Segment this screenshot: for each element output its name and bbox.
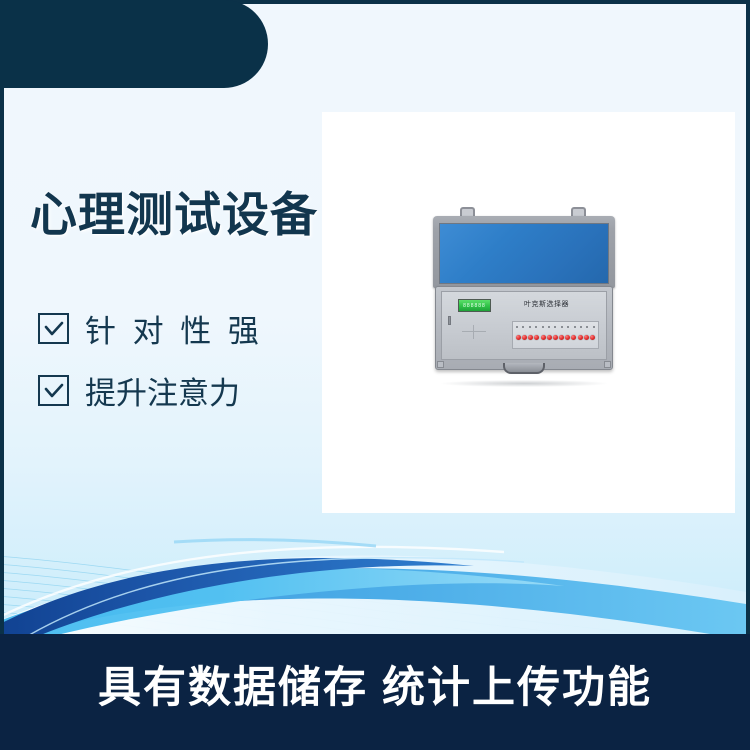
indicator-dot [574, 326, 576, 328]
footer-bar: 具有数据储存 统计上传功能 [0, 634, 750, 750]
decorative-wave-graphic [4, 518, 746, 638]
indicator-dot [580, 326, 582, 328]
indicator-dot [542, 326, 544, 328]
navy-corner-block [0, 0, 268, 88]
case-corner-bracket [437, 361, 444, 368]
feature-list: 针 对 性 强 提升注意力 [38, 297, 328, 421]
red-button-row [516, 335, 595, 340]
red-button [547, 335, 552, 340]
case-lid [433, 216, 615, 288]
red-button [584, 335, 589, 340]
red-button [571, 335, 576, 340]
indicator-dot [522, 326, 524, 328]
indicator-dot [554, 326, 556, 328]
red-button [553, 335, 558, 340]
product-photo-psych-test-case: 888888 叶克斯选择器 [433, 207, 615, 379]
case-corner-bracket [604, 361, 611, 368]
footer-text: 具有数据储存 统计上传功能 [0, 653, 750, 715]
checkbox-checked-icon [38, 313, 69, 344]
case-lid-blue-surface [439, 223, 609, 284]
page-title: 心理测试设备 [30, 176, 318, 245]
red-button [578, 335, 583, 340]
red-button [590, 335, 595, 340]
red-button [534, 335, 539, 340]
red-button [541, 335, 546, 340]
device-name-label: 叶克斯选择器 [524, 299, 569, 309]
indicator-dot [529, 326, 531, 328]
list-item: 针 对 性 强 [38, 297, 328, 359]
case-handle [503, 363, 545, 374]
red-button [528, 335, 533, 340]
feature-label: 提升注意力 [85, 368, 240, 413]
feature-label: 针 对 性 强 [85, 306, 263, 351]
indicator-dot [561, 326, 563, 328]
case-body: 888888 叶克斯选择器 [435, 286, 613, 370]
indicator-dot-row [516, 326, 595, 328]
red-button [565, 335, 570, 340]
side-port-icon [448, 316, 451, 325]
button-bank [512, 321, 599, 349]
indicator-dot [516, 326, 518, 328]
keypad-marking [462, 325, 486, 339]
product-shadow [441, 380, 607, 387]
indicator-dot [586, 326, 588, 328]
checkbox-checked-icon [38, 375, 69, 406]
indicator-dot [567, 326, 569, 328]
indicator-dot [593, 326, 595, 328]
led-display: 888888 [458, 299, 491, 312]
indicator-dot [548, 326, 550, 328]
control-panel-face: 888888 叶克斯选择器 [441, 291, 607, 360]
red-button [559, 335, 564, 340]
red-button [522, 335, 527, 340]
list-item: 提升注意力 [38, 359, 328, 421]
promo-poster: 心理测试设备 针 对 性 强 提升注意力 [0, 0, 750, 750]
indicator-dot [535, 326, 537, 328]
red-button [516, 335, 521, 340]
